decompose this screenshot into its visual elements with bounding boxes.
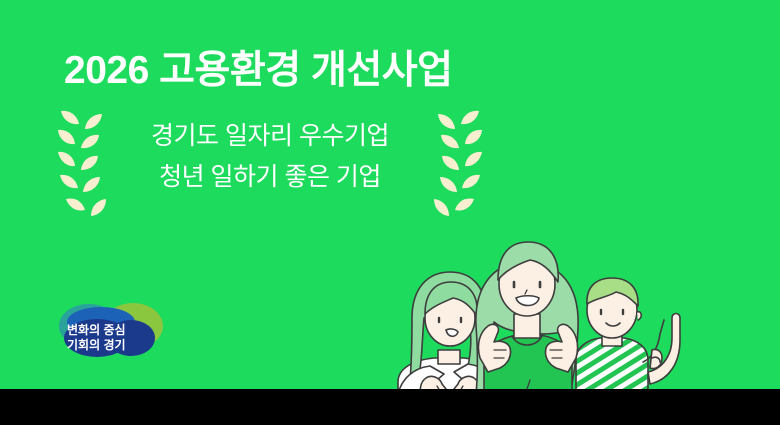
- award-block: 경기도 일자리 우수기업 청년 일하기 좋은 기업: [55, 108, 485, 220]
- award-text-lines: 경기도 일자리 우수기업 청년 일하기 좋은 기업: [117, 116, 423, 198]
- logo-line-2: 기회의 경기: [67, 337, 126, 352]
- page-title: 2026 고용환경 개선사업: [64, 48, 452, 94]
- bottom-black-bar: [0, 389, 780, 425]
- laurel-wreath-right-icon: [419, 108, 485, 220]
- award-line-1: 경기도 일자리 우수기업: [117, 116, 423, 157]
- thumb-up-left: [478, 324, 510, 372]
- promo-banner: 2026 고용환경 개선사업 경기도 일자리 우수기업 청년 일하기 좋은 기업: [0, 0, 780, 425]
- logo-line-1: 변화의 중심: [67, 322, 126, 337]
- gyeonggi-logo: 변화의 중심 기회의 경기: [55, 300, 167, 360]
- laurel-wreath-left-icon: [55, 108, 121, 220]
- award-line-2: 청년 일하기 좋은 기업: [117, 157, 423, 198]
